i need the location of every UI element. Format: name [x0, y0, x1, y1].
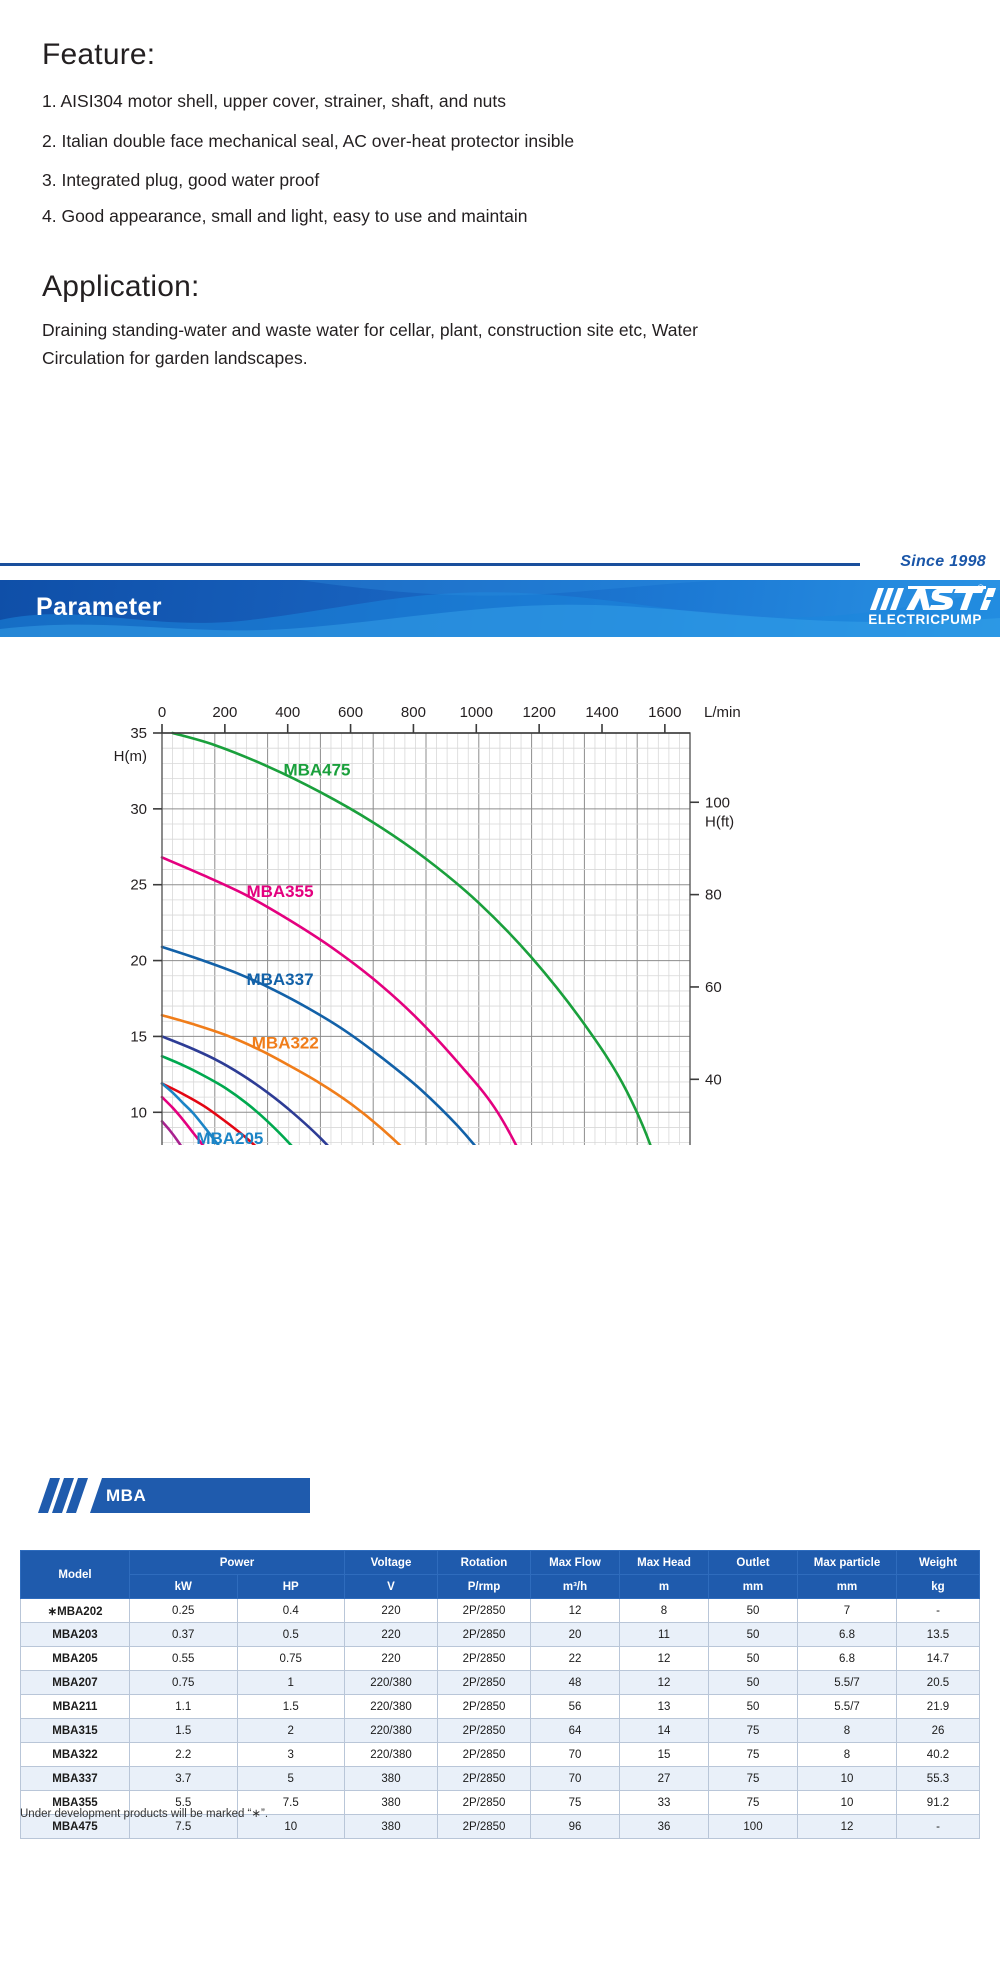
cell-kw: 0.25 — [130, 1599, 238, 1623]
application-title: Application: — [42, 270, 200, 304]
cell-head: 15 — [620, 1743, 709, 1767]
tick-top-0: 0 — [158, 704, 166, 721]
th-max-flow: Max Flow — [531, 1551, 620, 1575]
application-text: Draining standing-water and waste water … — [42, 316, 782, 373]
cell-kw: 0.55 — [130, 1647, 238, 1671]
cell-model: MBA337 — [21, 1767, 130, 1791]
cell-v: 220/380 — [345, 1719, 438, 1743]
cell-rot: 2P/2850 — [438, 1719, 531, 1743]
cell-rot: 2P/2850 — [438, 1695, 531, 1719]
cell-particle: 10 — [798, 1791, 897, 1815]
th-unit-hp: HP — [237, 1575, 345, 1599]
cell-flow: 75 — [531, 1791, 620, 1815]
cell-outlet: 50 — [709, 1695, 798, 1719]
since-rule-row: Since 1998 — [0, 553, 1000, 575]
tick-left-35: 35 — [130, 725, 147, 742]
cell-flow: 70 — [531, 1767, 620, 1791]
th-unit-kg: kg — [897, 1575, 980, 1599]
parameter-title: Parameter — [36, 593, 162, 622]
chart-gridlines — [162, 733, 690, 1145]
tick-top-200: 200 — [212, 704, 237, 721]
cell-head: 12 — [620, 1671, 709, 1695]
tick-right-60: 60 — [705, 979, 722, 996]
table-row: MBA2111.11.5220/3802P/28505613505.5/721.… — [21, 1695, 980, 1719]
th-max-particle: Max particle — [798, 1551, 897, 1575]
th-unit-m: m — [620, 1575, 709, 1599]
cell-kw: 3.7 — [130, 1767, 238, 1791]
cell-model: MBA211 — [21, 1695, 130, 1719]
curve-label-mba337: MBA337 — [246, 970, 313, 989]
tick-right-40: 40 — [705, 1071, 722, 1088]
cell-outlet: 75 — [709, 1791, 798, 1815]
tick-left-30: 30 — [130, 801, 147, 818]
th-unit-mm-part: mm — [798, 1575, 897, 1599]
cell-model: MBA207 — [21, 1671, 130, 1695]
cell-v: 220 — [345, 1647, 438, 1671]
th-unit-m3h: m³/h — [531, 1575, 620, 1599]
cell-flow: 22 — [531, 1647, 620, 1671]
cell-outlet: 75 — [709, 1743, 798, 1767]
cell-v: 380 — [345, 1767, 438, 1791]
brand-logo: ® ELECTRICPUMP — [868, 586, 982, 627]
tick-left-15: 15 — [130, 1028, 147, 1045]
cell-outlet: 75 — [709, 1767, 798, 1791]
th-voltage: Voltage — [345, 1551, 438, 1575]
tick-top-1200: 1200 — [522, 704, 555, 721]
table-head: Model Power Voltage Rotation Max Flow Ma… — [21, 1551, 980, 1599]
cell-flow: 56 — [531, 1695, 620, 1719]
cell-flow: 64 — [531, 1719, 620, 1743]
cell-weight: 13.5 — [897, 1623, 980, 1647]
registered-trademark-icon: ® — [977, 583, 984, 593]
cell-rot: 2P/2850 — [438, 1599, 531, 1623]
cell-flow: 12 — [531, 1599, 620, 1623]
th-unit-v: V — [345, 1575, 438, 1599]
axis-label-hm: H(m) — [114, 748, 147, 765]
th-max-head: Max Head — [620, 1551, 709, 1575]
cell-outlet: 50 — [709, 1671, 798, 1695]
table-header-group-row: Model Power Voltage Rotation Max Flow Ma… — [21, 1551, 980, 1575]
divider-line — [0, 563, 860, 566]
table-row: MBA3373.753802P/28507027751055.3 — [21, 1767, 980, 1791]
cell-hp: 5 — [237, 1767, 345, 1791]
cell-particle: 10 — [798, 1767, 897, 1791]
cell-hp: 2 — [237, 1719, 345, 1743]
cell-particle: 5.5/7 — [798, 1671, 897, 1695]
cell-model: MBA322 — [21, 1743, 130, 1767]
table-row: MBA2070.751220/3802P/28504812505.5/720.5 — [21, 1671, 980, 1695]
cell-kw: 0.37 — [130, 1623, 238, 1647]
cell-kw: 1.1 — [130, 1695, 238, 1719]
cell-outlet: 50 — [709, 1647, 798, 1671]
cell-rot: 2P/2850 — [438, 1671, 531, 1695]
chart-canvas: MBA475MBA355MBA337MBA322MBA315MBA211MBA2… — [0, 645, 1000, 1145]
table-row: MBA2030.370.52202P/28502011506.813.5 — [21, 1623, 980, 1647]
tick-top-1600: 1600 — [648, 704, 681, 721]
cell-rot: 2P/2850 — [438, 1791, 531, 1815]
cell-rot: 2P/2850 — [438, 1767, 531, 1791]
cell-rot: 2P/2850 — [438, 1647, 531, 1671]
cell-outlet: 100 — [709, 1815, 798, 1839]
cell-rot: 2P/2850 — [438, 1623, 531, 1647]
mba-banner-label: MBA — [106, 1486, 146, 1506]
cell-weight: - — [897, 1815, 980, 1839]
feature-item-4: 4. Good appearance, small and light, eas… — [42, 206, 527, 228]
cell-hp: 0.75 — [237, 1647, 345, 1671]
cell-outlet: 50 — [709, 1599, 798, 1623]
mba-banner-shape — [28, 1478, 310, 1513]
curve-mba475 — [173, 733, 675, 1145]
tick-top-1400: 1400 — [585, 704, 618, 721]
tick-top-400: 400 — [275, 704, 300, 721]
table-header-unit-row: kW HP V P/rmp m³/h m mm mm kg — [21, 1575, 980, 1599]
cell-hp: 1.5 — [237, 1695, 345, 1719]
cell-particle: 6.8 — [798, 1623, 897, 1647]
cell-kw: 0.75 — [130, 1671, 238, 1695]
cell-weight: 20.5 — [897, 1671, 980, 1695]
cell-head: 11 — [620, 1623, 709, 1647]
cell-model: MBA203 — [21, 1623, 130, 1647]
th-unit-mm-out: mm — [709, 1575, 798, 1599]
cell-kw: 1.5 — [130, 1719, 238, 1743]
chart-series-group — [162, 733, 674, 1145]
cell-outlet: 75 — [709, 1719, 798, 1743]
th-unit-prmp: P/rmp — [438, 1575, 531, 1599]
cell-v: 220/380 — [345, 1671, 438, 1695]
cell-flow: 70 — [531, 1743, 620, 1767]
cell-head: 27 — [620, 1767, 709, 1791]
cell-v: 220 — [345, 1599, 438, 1623]
cell-model: MBA205 — [21, 1647, 130, 1671]
tick-top-600: 600 — [338, 704, 363, 721]
feature-item-3: 3. Integrated plug, good water proof — [42, 170, 319, 192]
table-body: ∗MBA2020.250.42202P/2850128507-MBA2030.3… — [21, 1599, 980, 1839]
cell-particle: 12 — [798, 1815, 897, 1839]
th-power: Power — [130, 1551, 345, 1575]
cell-outlet: 50 — [709, 1623, 798, 1647]
curve-label-mba205: MBA205 — [196, 1129, 263, 1145]
cell-particle: 8 — [798, 1743, 897, 1767]
feature-item-2: 2. Italian double face mechanical seal, … — [42, 131, 574, 153]
cell-weight: - — [897, 1599, 980, 1623]
cell-v: 220 — [345, 1623, 438, 1647]
cell-weight: 14.7 — [897, 1647, 980, 1671]
cell-hp: 0.4 — [237, 1599, 345, 1623]
cell-weight: 21.9 — [897, 1695, 980, 1719]
table-footnote: Under development products will be marke… — [20, 1806, 268, 1820]
performance-curve-chart: MBA475MBA355MBA337MBA322MBA315MBA211MBA2… — [0, 645, 1000, 1145]
table-row: MBA3222.23220/3802P/2850701575840.2 — [21, 1743, 980, 1767]
cell-weight: 40.2 — [897, 1743, 980, 1767]
cell-v: 220/380 — [345, 1743, 438, 1767]
th-weight: Weight — [897, 1551, 980, 1575]
cell-v: 220/380 — [345, 1695, 438, 1719]
tick-top-800: 800 — [401, 704, 426, 721]
cell-weight: 26 — [897, 1719, 980, 1743]
cell-flow: 48 — [531, 1671, 620, 1695]
tick-left-20: 20 — [130, 953, 147, 970]
parameter-banner: Parameter ® ELECTRICPUMP — [0, 580, 1000, 637]
cell-particle: 7 — [798, 1599, 897, 1623]
cell-particle: 8 — [798, 1719, 897, 1743]
cell-head: 36 — [620, 1815, 709, 1839]
table-row: MBA3151.52220/3802P/2850641475826 — [21, 1719, 980, 1743]
curve-label-mba355: MBA355 — [246, 882, 313, 901]
cell-particle: 5.5/7 — [798, 1695, 897, 1719]
cell-particle: 6.8 — [798, 1647, 897, 1671]
cell-flow: 20 — [531, 1623, 620, 1647]
since-label: Since 1998 — [900, 553, 986, 571]
curve-label-mba475: MBA475 — [283, 760, 350, 779]
tick-right-80: 80 — [705, 887, 722, 904]
cell-rot: 2P/2850 — [438, 1743, 531, 1767]
curve-label-mba322: MBA322 — [252, 1034, 319, 1053]
cell-head: 14 — [620, 1719, 709, 1743]
mastra-wordmark-icon: ® — [868, 586, 982, 612]
axis-label-hft: H(ft) — [705, 813, 734, 830]
cell-hp: 3 — [237, 1743, 345, 1767]
cell-kw: 2.2 — [130, 1743, 238, 1767]
tick-left-25: 25 — [130, 877, 147, 894]
th-rotation: Rotation — [438, 1551, 531, 1575]
cell-head: 8 — [620, 1599, 709, 1623]
feature-title: Feature: — [42, 38, 155, 72]
cell-weight: 91.2 — [897, 1791, 980, 1815]
axis-label-lmin: L/min — [704, 704, 741, 721]
logo-subtitle: ELECTRICPUMP — [868, 613, 982, 627]
th-unit-kw: kW — [130, 1575, 238, 1599]
tick-left-10: 10 — [130, 1104, 147, 1121]
table-row: ∗MBA2020.250.42202P/2850128507- — [21, 1599, 980, 1623]
cell-head: 13 — [620, 1695, 709, 1719]
cell-weight: 55.3 — [897, 1767, 980, 1791]
feature-item-1: 1. AISI304 motor shell, upper cover, str… — [42, 91, 506, 113]
cell-v: 380 — [345, 1791, 438, 1815]
cell-rot: 2P/2850 — [438, 1815, 531, 1839]
cell-hp: 0.5 — [237, 1623, 345, 1647]
tick-top-1000: 1000 — [460, 704, 493, 721]
cell-head: 12 — [620, 1647, 709, 1671]
cell-flow: 96 — [531, 1815, 620, 1839]
specification-table: Model Power Voltage Rotation Max Flow Ma… — [20, 1550, 980, 1839]
cell-model: MBA315 — [21, 1719, 130, 1743]
cell-head: 33 — [620, 1791, 709, 1815]
tick-right-100: 100 — [705, 794, 730, 811]
table-row: MBA2050.550.752202P/28502212506.814.7 — [21, 1647, 980, 1671]
cell-v: 380 — [345, 1815, 438, 1839]
th-model: Model — [21, 1551, 130, 1599]
th-outlet: Outlet — [709, 1551, 798, 1575]
cell-hp: 1 — [237, 1671, 345, 1695]
mba-section-banner: MBA — [28, 1478, 310, 1513]
cell-model: ∗MBA202 — [21, 1599, 130, 1623]
